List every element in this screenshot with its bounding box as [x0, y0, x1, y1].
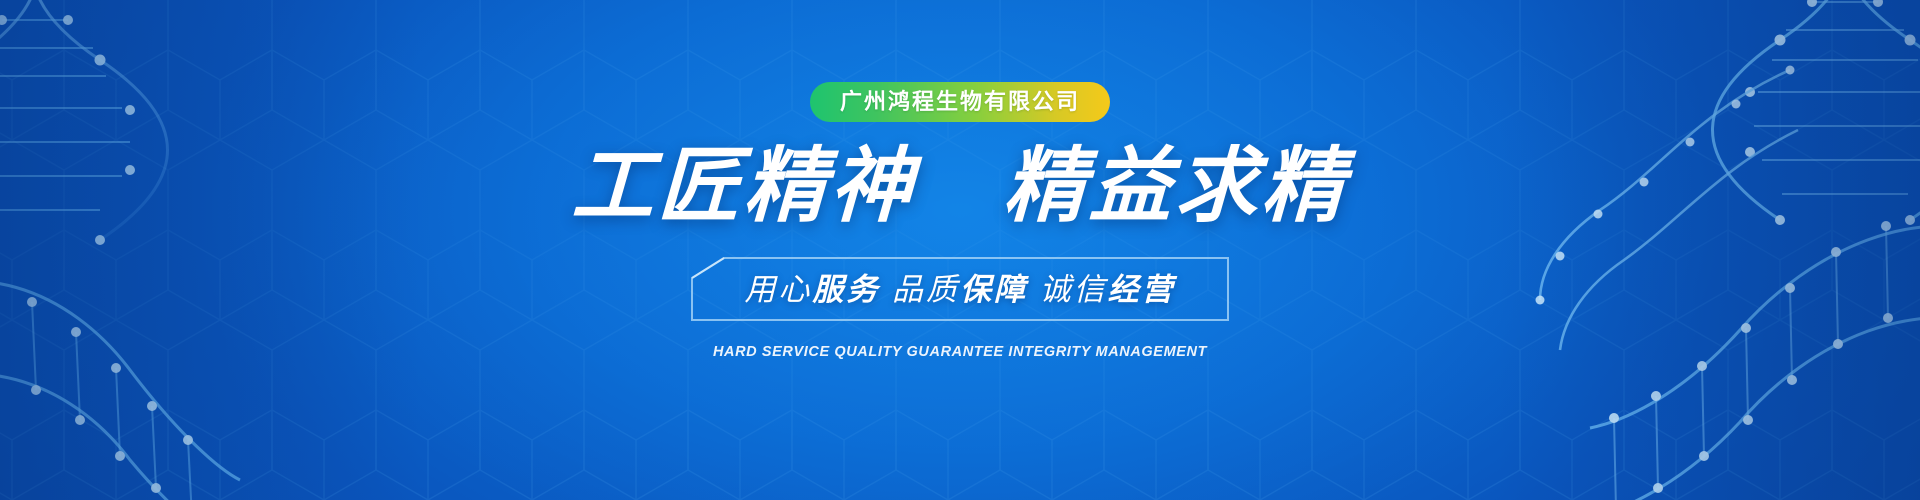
subtitle: 用心服务 品质保障 诚信经营	[744, 274, 1175, 305]
subtitle-seg-2: 服务	[812, 272, 880, 307]
headline-part-1: 工匠精神	[571, 141, 918, 232]
subtitle-frame-wrapper: 用心服务 品质保障 诚信经营	[690, 256, 1230, 322]
subtitle-seg-3: 品质	[892, 272, 960, 307]
headline-part-2: 精益求精	[1002, 141, 1349, 232]
promo-banner: 广州鸿程生物有限公司 工匠精神 精益求精 用心服务 品质保障 诚信经营 HARD…	[0, 0, 1920, 500]
english-tagline: HARD SERVICE QUALITY GUARANTEE INTEGRITY…	[713, 344, 1207, 360]
banner-content: 广州鸿程生物有限公司 工匠精神 精益求精 用心服务 品质保障 诚信经营 HARD…	[0, 0, 1920, 500]
subtitle-seg-5: 诚信	[1040, 272, 1108, 307]
company-name-badge: 广州鸿程生物有限公司	[810, 82, 1110, 122]
subtitle-seg-6: 经营	[1108, 272, 1176, 307]
headline: 工匠精神 精益求精	[571, 144, 1350, 230]
subtitle-seg-1: 用心	[744, 272, 812, 307]
subtitle-seg-4: 保障	[960, 272, 1028, 307]
